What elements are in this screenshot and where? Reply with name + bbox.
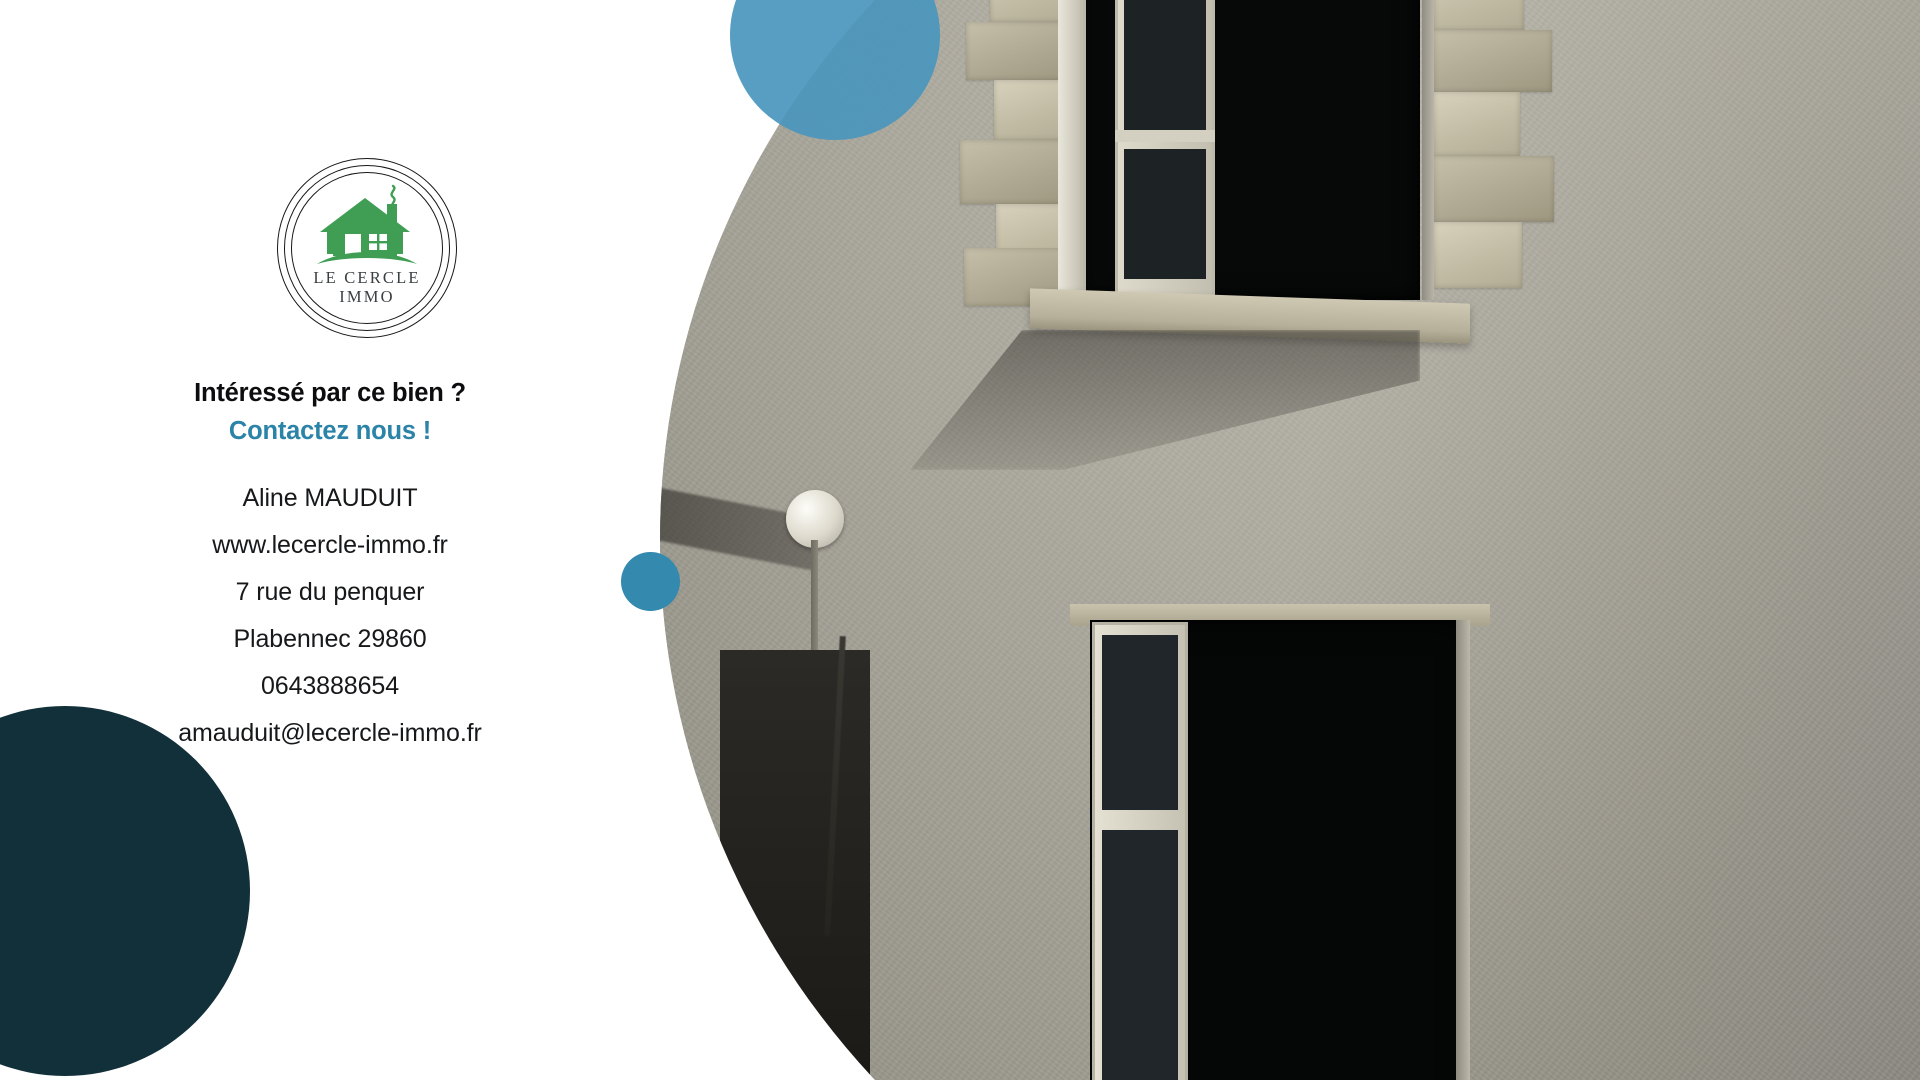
headline-cta: Contactez nous !: [0, 416, 660, 447]
upper-window-open-sash: [1115, 0, 1215, 300]
upper-window-right-rail: [1422, 0, 1434, 300]
contact-agent-name: Aline MAUDUIT: [0, 486, 660, 511]
stone-block: [1434, 92, 1520, 156]
stone-block: [1434, 222, 1522, 288]
upper-window-frame-left: [1058, 0, 1086, 310]
contact-city-postcode: Plabennec 29860: [0, 627, 660, 652]
logo-wordmark-line1: LE CERCLE: [277, 268, 457, 287]
contact-email[interactable]: amauduit@lecercle-immo.fr: [0, 721, 660, 746]
brand-logo: LE CERCLE IMMO: [277, 158, 457, 338]
flyer-canvas: LE CERCLE IMMO Intéressé par ce bien ? C…: [0, 0, 1920, 1080]
contact-website[interactable]: www.lecercle-immo.fr: [0, 533, 660, 558]
logo-wordmark: LE CERCLE IMMO: [277, 268, 457, 307]
lower-window-right-rail: [1456, 620, 1470, 1080]
stone-block: [1434, 0, 1524, 30]
house-with-chimney-icon: [315, 184, 419, 266]
stone-block: [1434, 30, 1552, 92]
lower-dark-recess: [720, 650, 870, 1080]
contact-panel: LE CERCLE IMMO Intéressé par ce bien ? C…: [0, 0, 660, 1080]
contact-details: Aline MAUDUIT www.lecercle-immo.fr 7 rue…: [0, 486, 660, 746]
headline-question: Intéressé par ce bien ?: [0, 378, 660, 409]
stone-block: [960, 140, 1074, 204]
lower-window-open-sash: [1092, 622, 1188, 1080]
contact-street: 7 rue du penquer: [0, 580, 660, 605]
logo-wordmark-line2: IMMO: [277, 287, 457, 306]
photo-image: [660, 0, 1920, 1080]
headings: Intéressé par ce bien ? Contactez nous !: [0, 378, 660, 447]
upper-window-mullion: [1115, 130, 1215, 142]
property-photo: [660, 0, 1920, 1080]
stone-block: [1434, 156, 1554, 222]
contact-phone[interactable]: 0643888654: [0, 674, 660, 699]
